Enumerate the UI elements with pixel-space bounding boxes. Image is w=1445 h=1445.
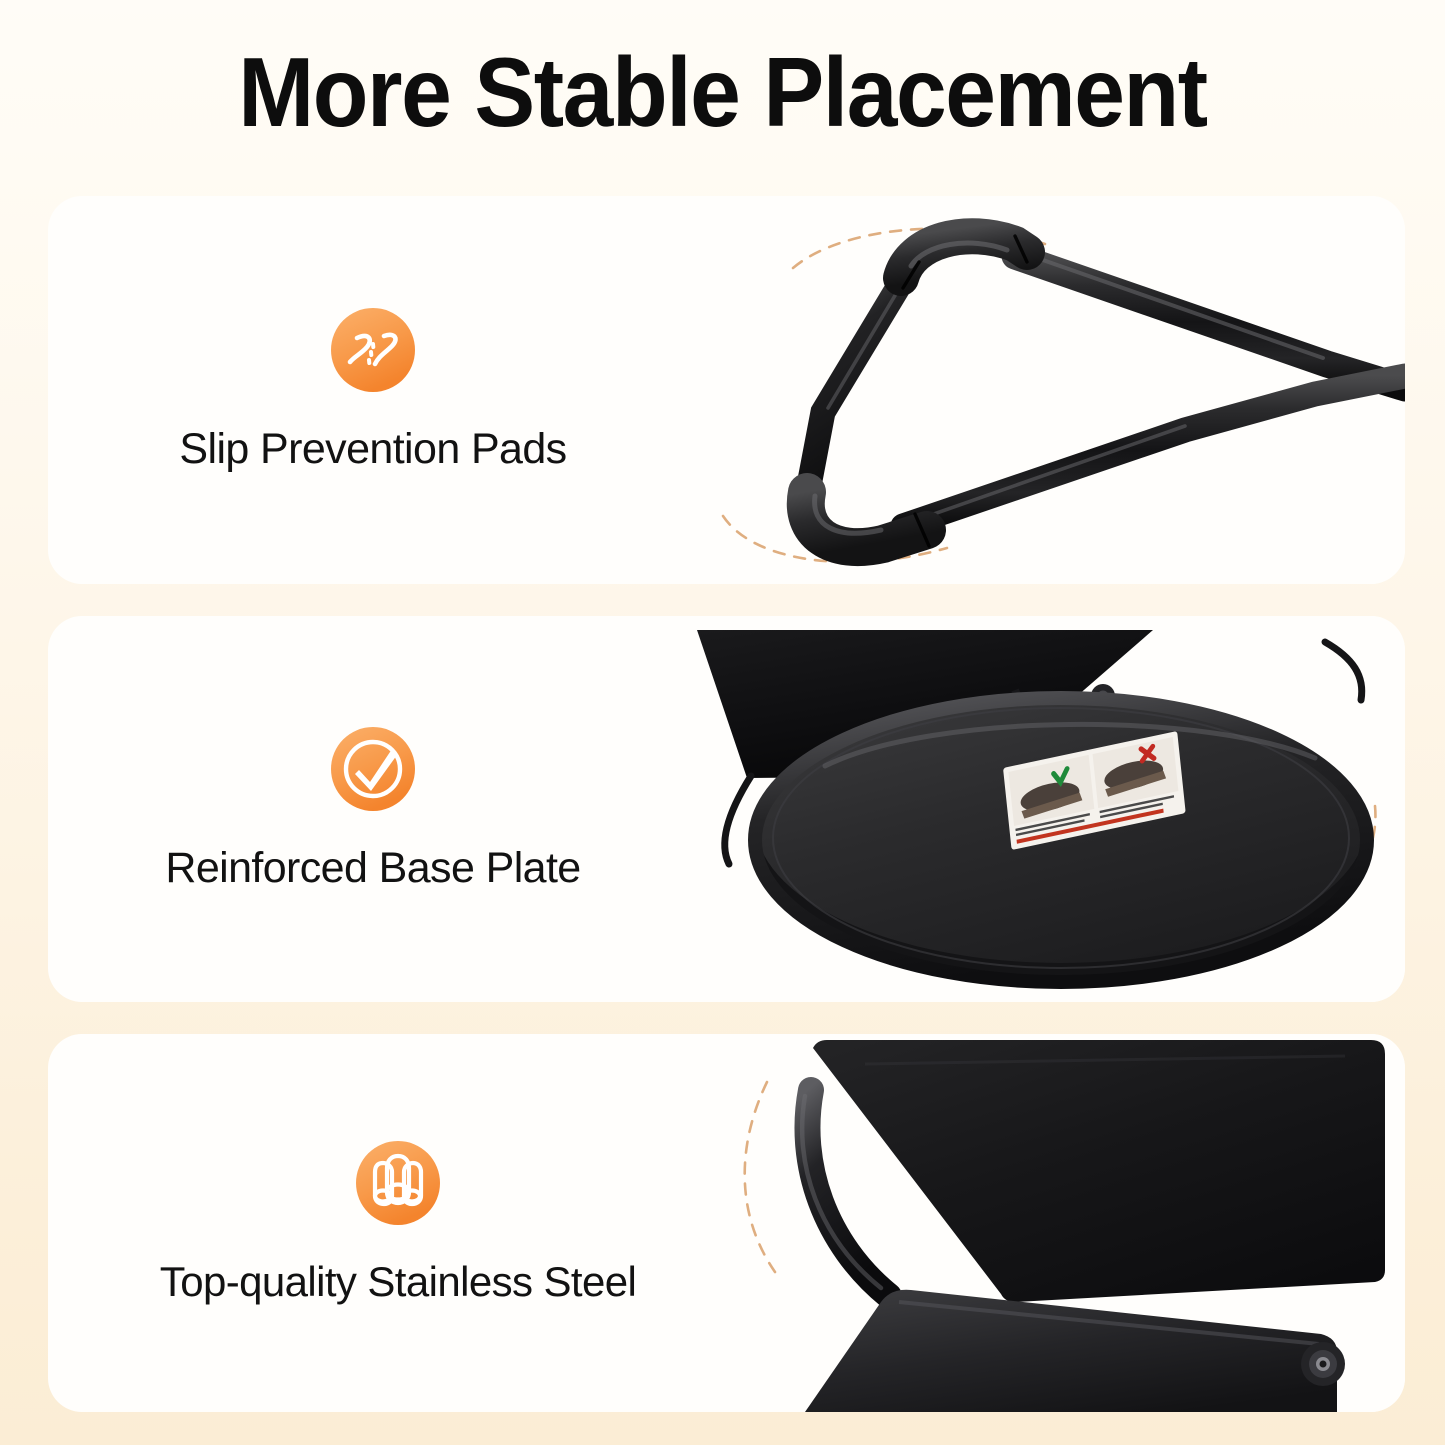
bolt-detail [1301, 1342, 1345, 1386]
steel-tubes-icon [354, 1139, 442, 1227]
feature-label: Top-quality Stainless Steel [160, 1257, 636, 1307]
feature-block: Reinforced Base Plate [48, 616, 698, 1002]
slippery-road-icon [329, 306, 417, 394]
feature-label: Slip Prevention Pads [179, 424, 566, 474]
feature-card-base-plate: Reinforced Base Plate [48, 616, 1405, 1002]
page-title: More Stable Placement [51, 38, 1395, 146]
feature-block: Slip Prevention Pads [48, 196, 698, 584]
feature-label: Reinforced Base Plate [165, 843, 580, 893]
feature-block: Top-quality Stainless Steel [48, 1034, 748, 1412]
product-photo-steel-tube-seat [685, 1034, 1405, 1412]
product-photo-frame-detail [715, 196, 1405, 584]
feature-card-stainless-steel: Top-quality Stainless Steel [48, 1034, 1405, 1412]
infographic-page: More Stable Placement [0, 0, 1445, 1445]
product-photo-base-plate [685, 616, 1405, 1002]
feature-card-slip-prevention: Slip Prevention Pads [48, 196, 1405, 584]
check-circle-icon [329, 725, 417, 813]
